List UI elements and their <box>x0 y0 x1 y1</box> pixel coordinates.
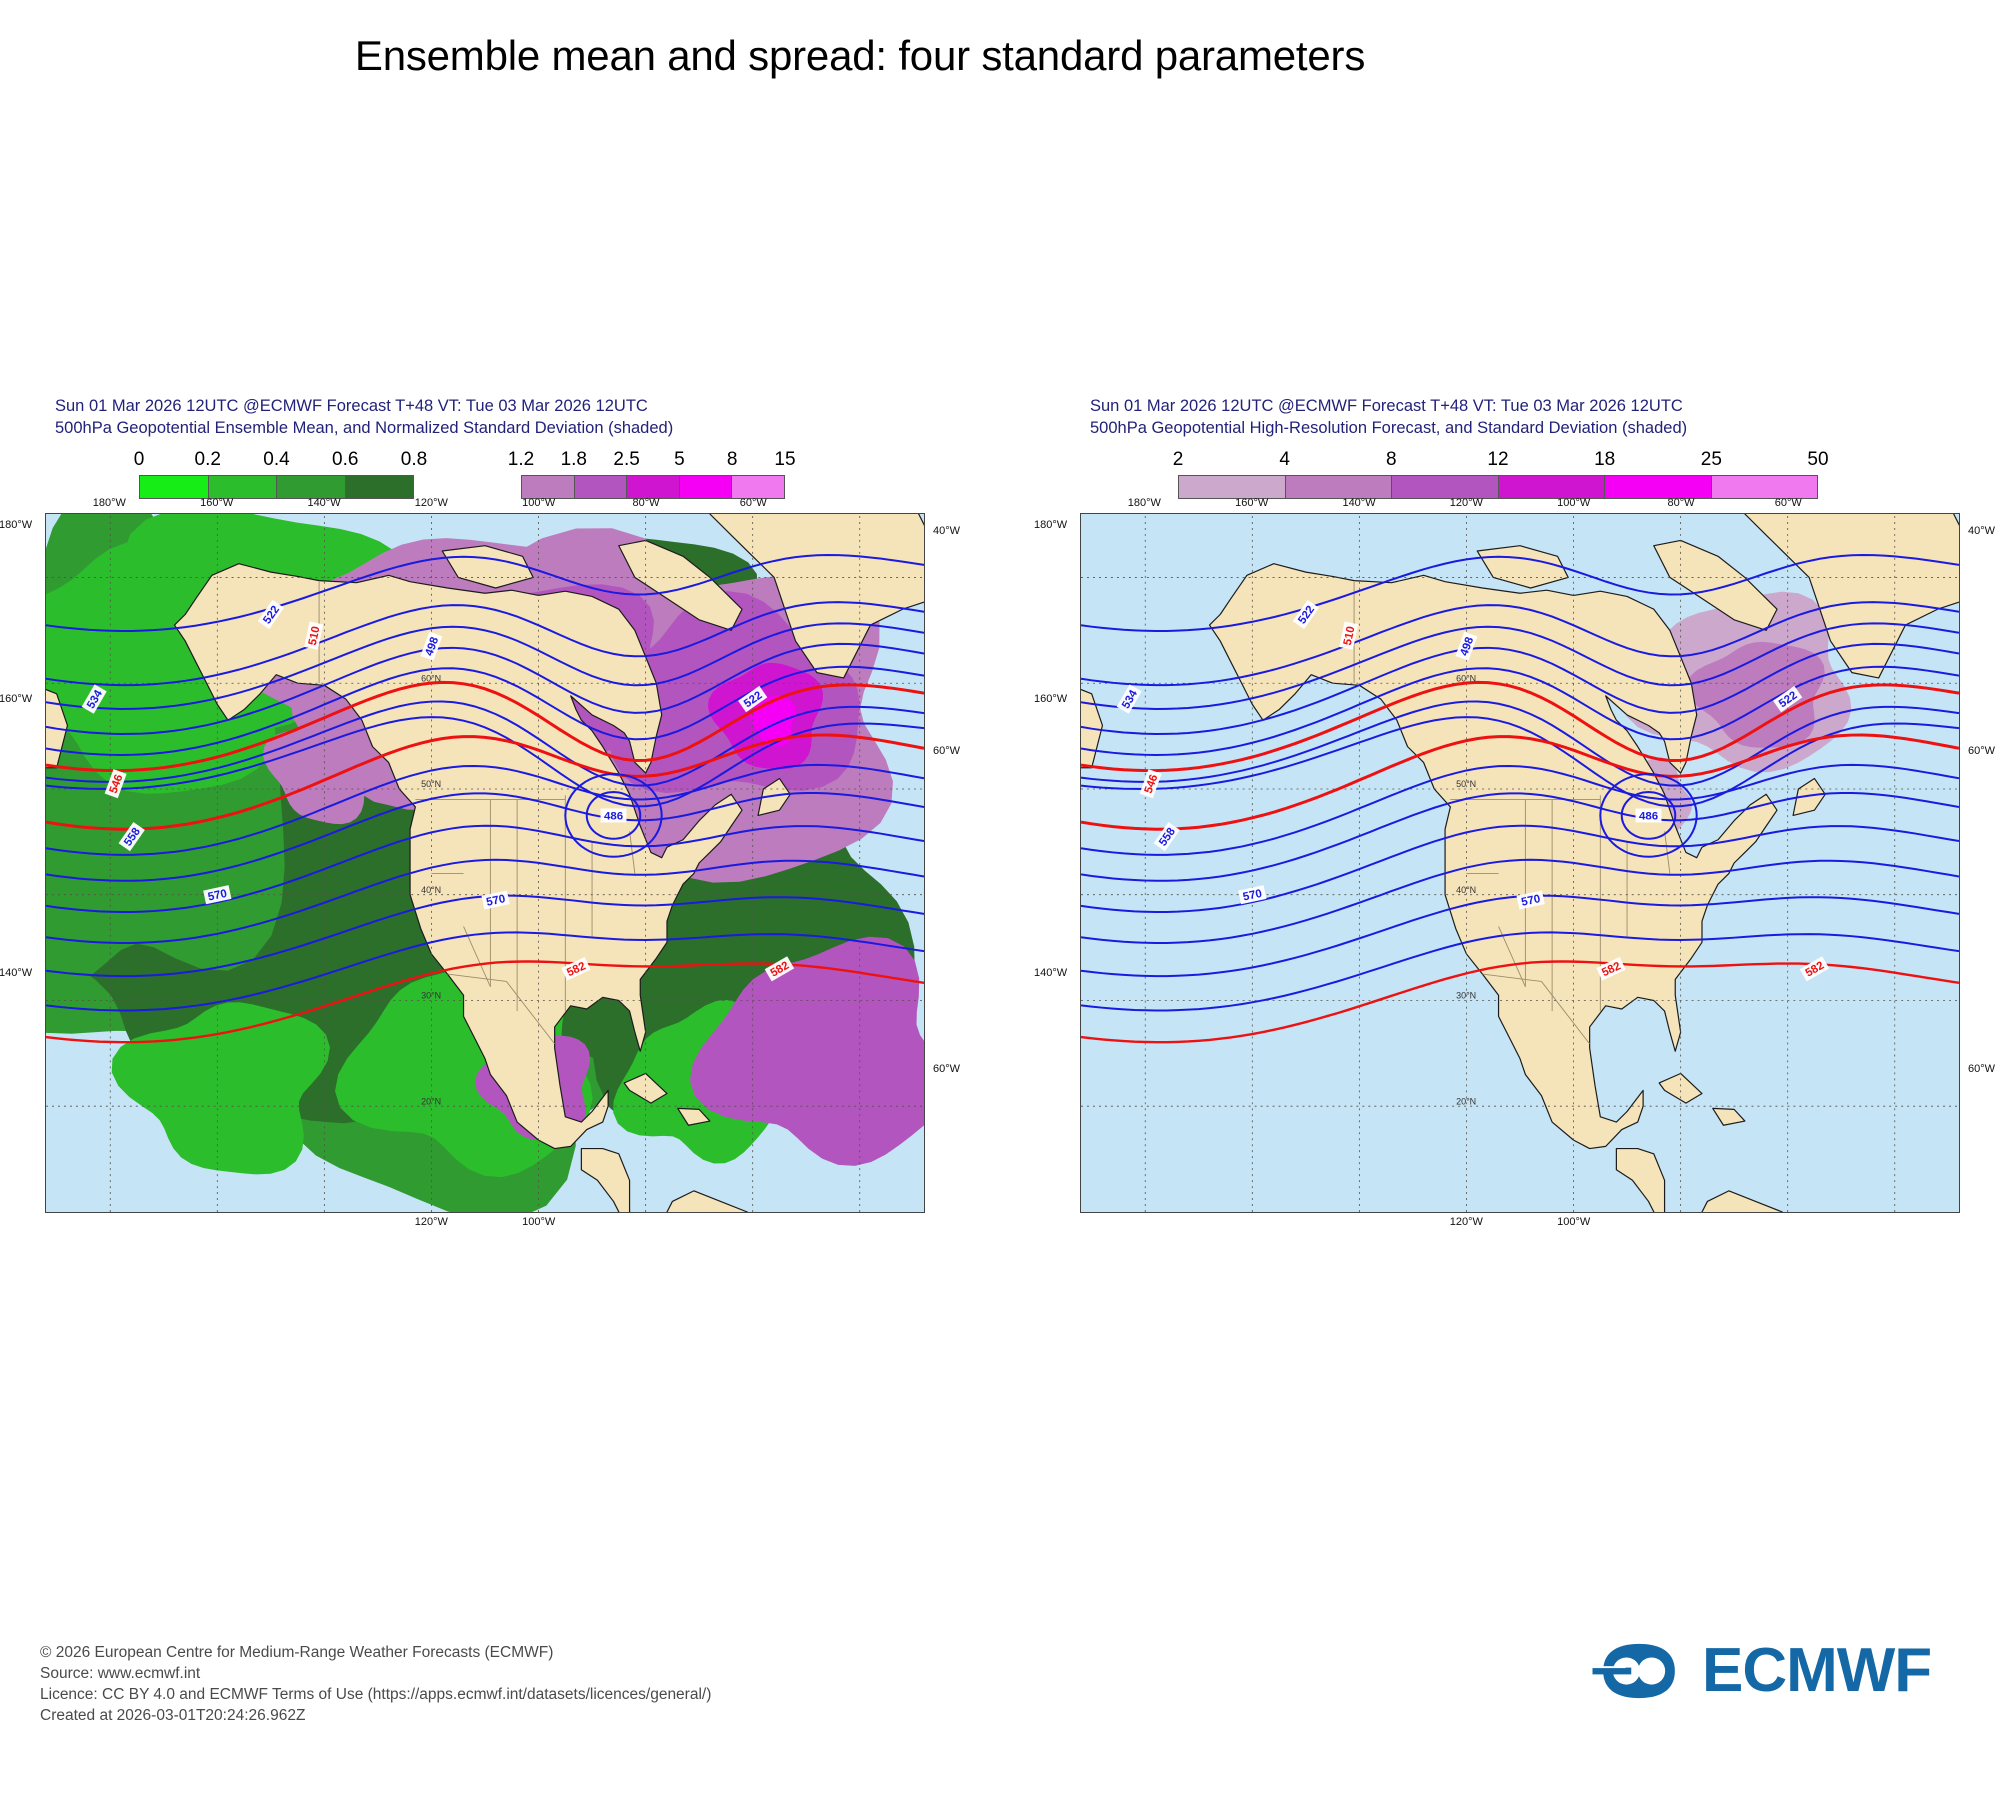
footer-licence: Licence: CC BY 4.0 and ECMWF Terms of Us… <box>40 1684 711 1705</box>
map-ensemble-mean[interactable]: 60°N50°N40°N30°N20°N 486 498 510 522 534… <box>45 513 925 1213</box>
colorbar-swatch <box>1179 476 1286 498</box>
svg-text:50°N: 50°N <box>1456 779 1476 789</box>
axis-label-top-lon: 120°W <box>415 497 448 509</box>
axis-label-left-lon: 160°W <box>0 693 32 705</box>
colorbar-row-left: 00.20.40.60.8 1.21.82.55815 <box>55 449 955 507</box>
axis-label-top-lon: 140°W <box>307 497 340 509</box>
colorbar-tick-label: 8 <box>727 449 738 471</box>
axis-label-top-lon: 60°W <box>740 497 767 509</box>
svg-text:40°N: 40°N <box>1456 885 1476 895</box>
colorbar-ticks-magenta: 1.21.82.55815 <box>521 449 785 473</box>
axis-label-top-lon: 120°W <box>1450 497 1483 509</box>
colorbar-swatch <box>1605 476 1712 498</box>
svg-text:486: 486 <box>604 810 623 822</box>
axis-label-top-lon: 100°W <box>522 497 555 509</box>
axis-label-top-lon: 100°W <box>1557 497 1590 509</box>
colorbar-swatch <box>1712 476 1818 498</box>
axis-label-top-lon: 180°W <box>93 497 126 509</box>
axis-label-top-lon: 60°W <box>1775 497 1802 509</box>
page-title: Ensemble mean and spread: four standard … <box>0 32 1720 80</box>
colorbar-tick-label: 0.8 <box>401 449 427 471</box>
colorbar-magenta <box>521 475 785 499</box>
colorbar-swatch <box>1286 476 1393 498</box>
colorbar-ticks-spread: 24812182550 <box>1178 449 1818 473</box>
colorbar-tick-label: 18 <box>1594 449 1615 471</box>
panel-header-line1: Sun 01 Mar 2026 12UTC @ECMWF Forecast T+… <box>55 395 955 417</box>
panel-high-resolution: Sun 01 Mar 2026 12UTC @ECMWF Forecast T+… <box>1090 395 1990 1213</box>
axis-label-right-lon: 40°W <box>1968 525 1995 537</box>
axis-label-top-lon: 180°W <box>1128 497 1161 509</box>
axis-label-left-lon: 180°W <box>1034 519 1067 531</box>
colorbar-swatch <box>1499 476 1606 498</box>
axis-label-top-lon: 80°W <box>1667 497 1694 509</box>
colorbar-green <box>139 475 414 499</box>
axis-label-bottom-lon: 100°W <box>1557 1216 1590 1228</box>
colorbar-swatch <box>522 476 575 498</box>
colorbar-swatch <box>209 476 278 498</box>
footer: © 2026 European Centre for Medium-Range … <box>40 1642 711 1726</box>
svg-text:30°N: 30°N <box>421 991 441 1001</box>
colorbar-ticks-green: 00.20.40.60.8 <box>139 449 414 473</box>
svg-text:50°N: 50°N <box>421 779 441 789</box>
colorbar-tick-label: 2.5 <box>613 449 639 471</box>
axis-label-left-lon: 140°W <box>0 967 32 979</box>
colorbar-tick-label: 2 <box>1173 449 1184 471</box>
colorbar-swatch <box>627 476 680 498</box>
colorbar-tick-label: 0.6 <box>332 449 358 471</box>
axis-label-top-lon: 160°W <box>1235 497 1268 509</box>
panel-header-left: Sun 01 Mar 2026 12UTC @ECMWF Forecast T+… <box>55 395 955 439</box>
colorbar-tick-label: 1.8 <box>561 449 587 471</box>
axis-label-bottom-lon: 100°W <box>522 1216 555 1228</box>
axis-label-top-lon: 140°W <box>1342 497 1375 509</box>
map-high-resolution[interactable]: 60°N50°N40°N30°N20°N 486 498 510 522 534… <box>1080 513 1960 1213</box>
axis-label-left-lon: 160°W <box>1034 693 1067 705</box>
colorbar-tick-label: 50 <box>1807 449 1828 471</box>
colorbar-tick-label: 25 <box>1701 449 1722 471</box>
panel-ensemble-mean: Sun 01 Mar 2026 12UTC @ECMWF Forecast T+… <box>55 395 955 1213</box>
colorbar-swatch <box>140 476 209 498</box>
axis-label-right-lon: 60°W <box>1968 1063 1995 1075</box>
footer-copyright: © 2026 European Centre for Medium-Range … <box>40 1642 711 1663</box>
axis-label-left-lon: 140°W <box>1034 967 1067 979</box>
svg-text:486: 486 <box>1639 810 1658 822</box>
colorbar-row-right: 24812182550 <box>1090 449 1990 507</box>
colorbar-tick-label: 4 <box>1279 449 1290 471</box>
map-container-left: 60°N50°N40°N30°N20°N 486 498 510 522 534… <box>55 513 955 1213</box>
axis-label-right-lon: 60°W <box>933 1063 960 1075</box>
svg-text:20°N: 20°N <box>421 1096 441 1106</box>
axis-label-left-lon: 180°W <box>0 519 32 531</box>
panel-header-line2: 500hPa Geopotential High-Resolution Fore… <box>1090 417 1990 439</box>
colorbar-spread <box>1178 475 1818 499</box>
panel-header-line2: 500hPa Geopotential Ensemble Mean, and N… <box>55 417 955 439</box>
colorbar-swatch <box>277 476 346 498</box>
axis-label-right-lon: 60°W <box>933 745 960 757</box>
footer-created: Created at 2026-03-01T20:24:26.962Z <box>40 1705 711 1726</box>
colorbar-swatch <box>575 476 628 498</box>
axis-label-right-lon: 40°W <box>933 525 960 537</box>
map-container-right: 60°N50°N40°N30°N20°N 486 498 510 522 534… <box>1090 513 1990 1213</box>
ecmwf-wordmark: ECMWF <box>1702 1640 1931 1702</box>
axis-label-right-lon: 60°W <box>1968 745 1995 757</box>
svg-text:30°N: 30°N <box>1456 991 1476 1001</box>
colorbar-tick-label: 1.2 <box>508 449 534 471</box>
colorbar-tick-label: 5 <box>674 449 685 471</box>
panel-header-line1: Sun 01 Mar 2026 12UTC @ECMWF Forecast T+… <box>1090 395 1990 417</box>
colorbar-swatch <box>1392 476 1499 498</box>
ecmwf-mark-icon <box>1590 1640 1688 1702</box>
colorbar-tick-label: 8 <box>1386 449 1397 471</box>
ecmwf-logo: ECMWF <box>1590 1640 1931 1702</box>
colorbar-tick-label: 0.4 <box>263 449 289 471</box>
axis-label-bottom-lon: 120°W <box>1450 1216 1483 1228</box>
colorbar-tick-label: 0 <box>134 449 145 471</box>
footer-source: Source: www.ecmwf.int <box>40 1663 711 1684</box>
colorbar-tick-label: 0.2 <box>195 449 221 471</box>
svg-text:40°N: 40°N <box>421 885 441 895</box>
panel-header-right: Sun 01 Mar 2026 12UTC @ECMWF Forecast T+… <box>1090 395 1990 439</box>
colorbar-tick-label: 15 <box>774 449 795 471</box>
axis-label-top-lon: 160°W <box>200 497 233 509</box>
axis-label-bottom-lon: 120°W <box>415 1216 448 1228</box>
svg-text:20°N: 20°N <box>1456 1096 1476 1106</box>
colorbar-swatch <box>680 476 733 498</box>
colorbar-swatch <box>732 476 784 498</box>
colorbar-tick-label: 12 <box>1487 449 1508 471</box>
axis-label-top-lon: 80°W <box>632 497 659 509</box>
colorbar-swatch <box>346 476 414 498</box>
